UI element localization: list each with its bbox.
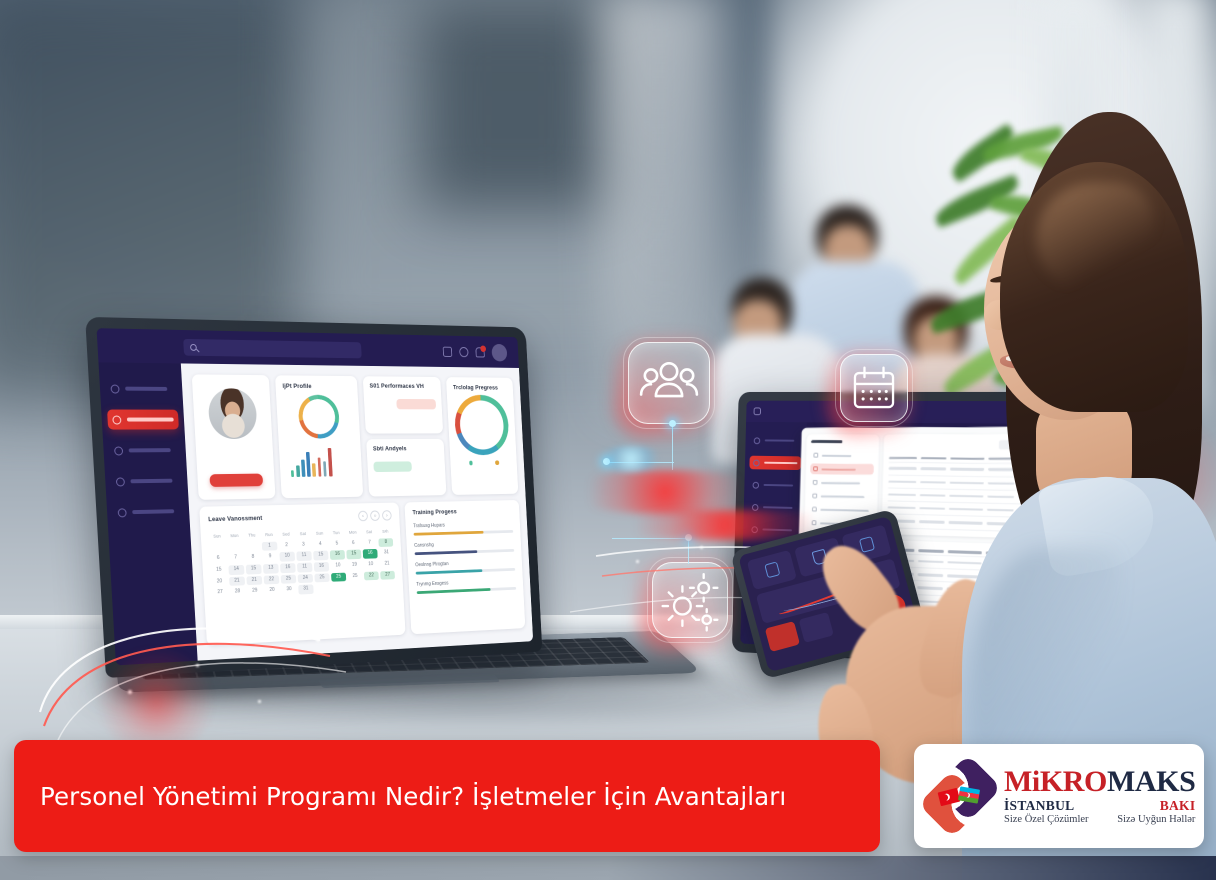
tablet-nav-item[interactable] [811,450,874,461]
avatar[interactable] [491,343,507,361]
tablet-sidebar-item-1[interactable] [750,433,802,447]
calendar-day[interactable]: 8 [378,538,393,547]
tablet-nav-item[interactable] [810,464,873,475]
calendar-day[interactable]: 2 [279,541,295,551]
sidebar-item-label [125,387,167,391]
calendar-nav[interactable]: ‹ ○ › [358,510,392,521]
calendar-day[interactable]: 27 [212,588,228,598]
calendar-day [210,543,226,553]
calendar-prev-button[interactable]: ‹ [358,511,368,522]
calendar-day [245,542,261,552]
title-banner: Personel Yönetimi Programı Nedir? İşletm… [14,740,880,852]
calendar-dow: Sun [312,529,327,538]
training-donut-chart [453,395,510,456]
calendar-day[interactable]: 15 [346,550,361,559]
tablet-nav-item[interactable] [809,504,872,516]
calendar-dow: Sat [295,529,310,538]
sidebar-icon-2 [112,415,121,424]
calendar-day[interactable]: 16 [280,563,295,573]
calendar-day[interactable]: 28 [230,588,246,598]
card-title: ljPt Profile [282,383,351,390]
performance-chip [397,399,436,409]
calendar-day[interactable]: 21 [246,576,262,586]
calendar-dow: Sat [362,527,377,536]
calendar-day[interactable]: 8 [245,553,261,563]
background-dark-panel [420,0,610,210]
calendar-day[interactable]: 31 [298,585,313,595]
training-progress-list: Trafsusg HuparsCansnshgOeslnng PlrogtanT… [413,521,516,594]
calendar-day[interactable]: 20 [212,577,228,587]
calendar-next-button[interactable]: › [382,510,392,521]
search-input[interactable] [183,338,362,357]
bell-icon[interactable] [475,347,484,357]
laptop-lid: ljPt Profile [85,317,542,678]
card-title: Sbti Andyels [373,445,439,452]
training-progress-card[interactable]: Trclolag Pregress [446,377,518,495]
employee-profile-card[interactable] [192,374,276,499]
grid-icon[interactable] [443,346,453,356]
clock-icon[interactable] [459,346,469,356]
sidebar-item-2-active[interactable] [107,410,179,430]
calendar-day[interactable]: 1 [262,541,278,551]
sidebar-item-label [129,448,171,452]
tablet-sidebar-item-3[interactable] [749,478,801,493]
hologram-connector-horizontal [606,462,674,463]
calendar-dow: Mon [345,528,360,537]
calendar-day[interactable]: 30 [281,585,296,595]
sidebar-item-label [127,418,174,421]
calendar-day[interactable]: 19 [347,561,362,570]
sidebar-item-3[interactable] [109,440,181,460]
gears-settings-icon [652,562,728,638]
calendar-day[interactable]: 20 [264,586,280,596]
calendar-day[interactable]: 31 [379,549,394,558]
hologram-users-tile[interactable] [628,342,710,424]
tablet-menu-icon[interactable] [754,407,762,415]
calendar-day[interactable]: 6 [210,554,226,564]
notification-badge [480,345,486,351]
donut-legend [457,460,510,465]
skill-chip [374,461,413,472]
sidebar-item-1[interactable] [105,378,177,398]
calendar-day[interactable]: 16 [330,550,345,559]
sidebar-icon-3 [114,446,123,455]
calendar-day[interactable]: 29 [247,587,263,597]
hologram-connector-bottom [688,538,689,564]
kpi-donut-chart [297,395,340,439]
calendar-day[interactable]: 25 [281,574,296,584]
hologram-connector-horizontal-2 [612,538,690,539]
training-progress-track [415,549,515,556]
training-progress-fill [414,530,484,535]
calendar-day[interactable]: 10 [279,552,295,562]
logo-name-part2: MAKS [1107,767,1195,797]
calendar-day[interactable]: 25 [314,573,329,583]
calendar-day [315,584,330,594]
leave-management-card[interactable]: Leave Vanossment ‹ ○ › SunMonThuRunSedSa… [199,503,405,646]
connector-node-b [603,458,610,465]
calendar-dow: Tun [329,528,344,537]
calendar-day [381,581,396,590]
calendar-dow: Sed [278,530,294,540]
laptop-device: ljPt Profile [96,318,656,738]
headset-icon [764,562,780,579]
screenshot-root: ljPt Profile [0,0,1216,880]
training-progress-item: Cansnshg [414,540,514,555]
bottom-strip [0,856,1216,880]
training-progress-list-card[interactable]: Training Progess Trafsusg HuparsCansnshg… [404,500,525,634]
logo-tagline-right: Sizə Uyğun Həllər [1117,815,1195,826]
calendar-today-button[interactable]: ○ [370,510,380,521]
calendar-day [365,582,380,592]
sidebar-icon-4 [116,477,125,486]
calendar-dow: Thu [244,531,260,541]
laptop-dashboard: ljPt Profile [181,363,533,660]
hologram-connector-top [672,424,673,470]
calendar-day[interactable]: 6 [346,539,361,548]
training-progress-label: Trynmg Ensgess [416,578,516,588]
kpi-bar-chart [289,444,355,477]
training-progress-fill [416,569,482,575]
calendar-day[interactable]: 25 [331,572,346,582]
training-progress-item: Oeslnng Plrogtan [415,559,515,575]
laptop-topbar [97,328,519,368]
calendar-icon [840,354,908,422]
calendar-day[interactable]: 15 [313,551,328,561]
calendar-day[interactable]: 4 [313,540,328,549]
training-progress-track [417,587,517,595]
training-progress-track [414,530,514,536]
hair-highlight [1036,182,1154,294]
calendar-day[interactable]: 25 [348,572,363,582]
page-title: Personel Yönetimi Programı Nedir? İşletm… [40,782,786,811]
phone-widget-red[interactable] [765,621,800,652]
calendar-day[interactable]: 15 [246,564,262,574]
logo-wordmark: MiKRO MAKS İSTANBUL BAKI Size Özel Çözüm… [1004,767,1195,825]
hologram-calendar-tile[interactable] [840,354,908,422]
logo-city-left: İSTANBUL [1004,799,1074,813]
card-title: Trclolag Pregress [453,385,507,392]
calendar-day[interactable]: 5 [329,539,344,548]
calendar-day[interactable]: 7 [362,538,377,547]
calendar-title: Leave Vanossment [208,515,262,523]
training-progress-fill [417,588,491,595]
logo-city-right: BAKI [1160,799,1196,813]
calendar-day[interactable]: 7 [228,554,244,564]
employee-photo [207,388,257,439]
training-progress-label: Oeslnng Plrogtan [415,559,515,568]
sidebar-item-4[interactable] [111,471,183,492]
calendar-day[interactable]: 22 [264,575,280,585]
logo-tagline-left: Size Özel Çözümler [1004,815,1089,826]
calendar-dow: Run [261,530,277,540]
tablet-sidebar-item-4[interactable] [748,500,800,515]
calendar-day[interactable]: 10 [363,560,378,569]
tablet-sidebar-item-2-active[interactable] [749,456,801,470]
calendar-day[interactable]: 14 [228,565,244,575]
calendar-day[interactable]: 22 [364,571,379,580]
connector-node-a [669,420,676,427]
calendar-day[interactable]: 21 [229,576,245,586]
connector-node-c [685,534,692,541]
training-progress-label: Cansnshg [414,540,514,549]
training-progress-item: Trafsusg Hupars [413,521,513,536]
primary-action-button[interactable] [209,474,263,487]
performance-card[interactable]: S01 Performaces VH [363,376,443,433]
tablet-nav-title [811,440,842,443]
sidebar-icon-1 [110,384,119,393]
calendar-day[interactable]: 9 [262,553,278,563]
calendar-day[interactable]: 21 [380,560,395,569]
kpi-profile-card[interactable]: ljPt Profile [275,375,364,498]
sidebar-item-label [130,479,172,483]
calendar-day[interactable]: 15 [211,566,227,576]
training-list-title: Training Progess [412,507,512,516]
card-title: S01 Performaces VH [369,383,435,390]
calendar-day[interactable]: 11 [297,563,312,573]
calendar-dow: Sun [209,532,225,542]
laptop-trackpad[interactable] [318,673,500,688]
calendar-day[interactable]: 11 [296,551,311,561]
logo-card[interactable]: MiKRO MAKS İSTANBUL BAKI Size Özel Çözüm… [914,744,1204,848]
tablet-nav-item[interactable] [810,491,873,503]
calendar-day[interactable]: 16 [363,549,378,558]
skill-analysis-card[interactable]: Sbti Andyels [366,439,446,497]
calendar-dow: Mon [227,531,243,541]
laptop-screen: ljPt Profile [97,328,534,665]
calendar-day[interactable]: 3 [296,540,311,550]
calendar-day [332,583,347,593]
training-progress-fill [415,550,477,555]
sidebar-item-5[interactable] [112,501,184,522]
calendar-day [227,542,243,552]
calendar-day[interactable]: 24 [298,574,313,584]
calendar-day[interactable]: 27 [380,571,395,580]
sidebar-icon-5 [118,508,127,517]
calendar-grid[interactable]: SunMonThuRunSedSatSunTunMonSatSrh1234567… [209,527,396,598]
training-progress-label: Trafsusg Hupars [413,521,513,529]
hologram-settings-tile[interactable] [652,562,728,638]
users-group-icon [628,342,710,424]
sidebar-item-label [132,509,174,513]
calendar-day[interactable]: 16 [314,562,329,572]
calendar-dow: Srh [378,527,393,536]
calendar-day[interactable]: 13 [263,564,279,574]
tablet-nav-item[interactable] [810,477,873,489]
search-icon [190,343,197,350]
calendar-day[interactable]: 10 [330,561,345,571]
training-progress-item: Trynmg Ensgess [416,578,516,594]
logo-name-part1: MiKRO [1004,767,1107,797]
mikromaks-logo-mark [926,762,994,830]
calendar-day [348,583,363,593]
training-progress-track [416,568,516,575]
phone-tile-headset[interactable] [747,550,797,590]
